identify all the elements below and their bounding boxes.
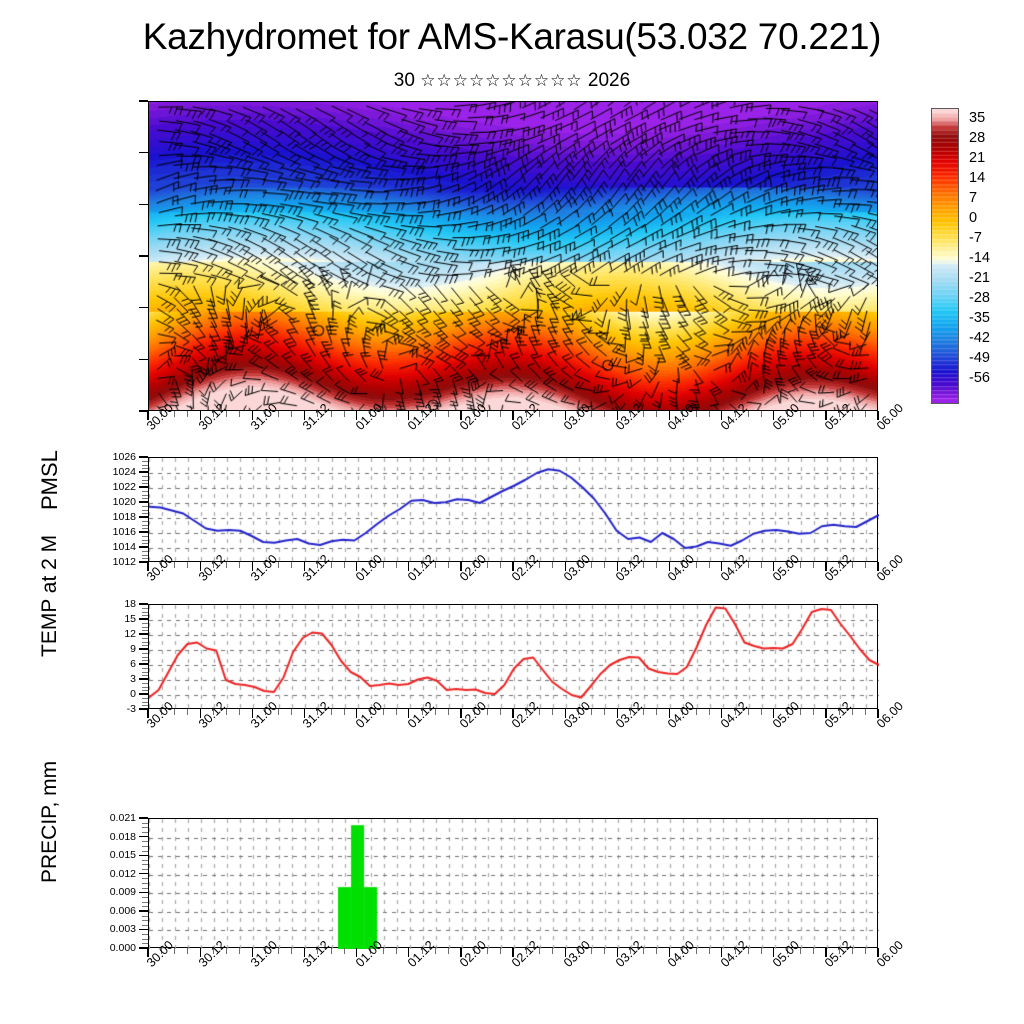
x-minor-tick — [239, 562, 240, 568]
y-minor-tick — [142, 627, 148, 628]
y-tick — [139, 648, 148, 649]
page-title: Kazhydromet for AMS-Karasu(53.032 70.221… — [0, 16, 1024, 58]
y-minor-tick — [142, 483, 148, 484]
x-minor-tick — [187, 709, 188, 715]
x-minor-tick — [448, 411, 449, 417]
y-tick — [139, 100, 148, 101]
y-tick — [139, 678, 148, 679]
x-minor-tick — [761, 562, 762, 568]
x-minor-tick — [448, 948, 449, 954]
precip-chart — [148, 818, 878, 948]
y-minor-tick — [142, 491, 148, 492]
y-minor-tick — [142, 555, 148, 556]
subtitle-year: 2026 — [588, 70, 630, 91]
x-minor-tick — [552, 709, 553, 715]
y-minor-tick — [142, 869, 148, 870]
y-minor-tick — [142, 558, 148, 559]
y-tick — [139, 817, 148, 818]
x-minor-tick — [865, 948, 866, 954]
colorbar-tick-label: 21 — [969, 150, 985, 166]
y-minor-tick — [142, 551, 148, 552]
y-tick — [139, 152, 148, 153]
colorbar-tick-label: -56 — [969, 370, 990, 386]
y-minor-tick — [142, 705, 148, 706]
y-minor-tick — [142, 860, 148, 861]
x-minor-tick — [761, 709, 762, 715]
y-minor-tick — [142, 536, 148, 537]
x-minor-tick — [239, 948, 240, 954]
y-tick-label: 1024 — [113, 466, 136, 478]
x-minor-tick — [500, 948, 501, 954]
y-minor-tick — [142, 864, 148, 865]
x-minor-tick — [500, 411, 501, 417]
y-minor-tick — [142, 690, 148, 691]
y-minor-tick — [142, 841, 148, 842]
y-tick — [139, 255, 148, 256]
colorbar-tick-label: -7 — [969, 230, 982, 246]
temp-chart — [148, 604, 878, 709]
x-minor-tick — [344, 948, 345, 954]
y-minor-tick — [142, 528, 148, 529]
y-tick-label: 0.006 — [110, 905, 136, 917]
y-minor-tick — [142, 476, 148, 477]
y-minor-tick — [142, 934, 148, 935]
y-minor-tick — [142, 498, 148, 499]
y-tick — [139, 855, 148, 856]
y-tick-label: 18 — [124, 598, 136, 610]
x-minor-tick — [656, 562, 657, 568]
y-tick — [139, 359, 148, 360]
y-minor-tick — [142, 906, 148, 907]
subtitle-month-glyphs: ☆☆☆☆☆☆☆☆☆☆ — [420, 71, 582, 90]
y-tick-label: 15 — [124, 613, 136, 625]
x-minor-tick — [709, 948, 710, 954]
y-minor-tick — [142, 687, 148, 688]
y-tick-label: 12 — [124, 628, 136, 640]
y-minor-tick — [142, 525, 148, 526]
y-minor-tick — [142, 939, 148, 940]
x-minor-tick — [239, 709, 240, 715]
colorbar-tick-label: 28 — [969, 130, 985, 146]
y-minor-tick — [142, 521, 148, 522]
x-minor-tick — [552, 411, 553, 417]
y-minor-tick — [142, 827, 148, 828]
y-minor-tick — [142, 513, 148, 514]
colorbar-tick-label: -28 — [969, 290, 990, 306]
x-minor-tick — [656, 709, 657, 715]
y-tick — [139, 836, 148, 837]
y-tick — [139, 618, 148, 619]
y-tick-label: 1016 — [113, 526, 136, 538]
x-minor-tick — [396, 948, 397, 954]
colorbar-tick-label: -35 — [969, 310, 990, 326]
temperature-field-canvas — [149, 102, 877, 410]
y-minor-tick — [142, 540, 148, 541]
pmsl-chart — [148, 457, 878, 562]
x-minor-tick — [291, 709, 292, 715]
y-minor-tick — [142, 897, 148, 898]
y-minor-tick — [142, 668, 148, 669]
y-minor-tick — [142, 465, 148, 466]
x-minor-tick — [396, 562, 397, 568]
x-minor-tick — [761, 411, 762, 417]
precip-bar-canvas — [149, 819, 879, 949]
y-minor-tick — [142, 480, 148, 481]
y-tick — [139, 307, 148, 308]
y-tick-label: 0.021 — [110, 812, 136, 824]
y-tick — [139, 546, 148, 547]
x-minor-tick — [604, 411, 605, 417]
y-minor-tick — [142, 698, 148, 699]
x-minor-tick — [187, 562, 188, 568]
y-tick — [139, 892, 148, 893]
y-minor-tick — [142, 943, 148, 944]
y-minor-tick — [142, 702, 148, 703]
y-minor-tick — [142, 653, 148, 654]
subtitle: 30 ☆☆☆☆☆☆☆☆☆☆ 2026 — [0, 70, 1024, 92]
y-minor-tick — [142, 642, 148, 643]
y-minor-tick — [142, 675, 148, 676]
y-minor-tick — [142, 615, 148, 616]
x-minor-tick — [396, 709, 397, 715]
y-minor-tick — [142, 510, 148, 511]
y-minor-tick — [142, 823, 148, 824]
y-tick-label: 0.009 — [110, 886, 136, 898]
y-tick — [139, 516, 148, 517]
y-tick — [139, 531, 148, 532]
colorbar-tick-label: 14 — [969, 170, 985, 186]
colorbar-tick-label: 35 — [969, 110, 985, 126]
x-minor-tick — [865, 709, 866, 715]
y-minor-tick — [142, 468, 148, 469]
subtitle-day: 30 — [394, 70, 415, 91]
pmsl-line-canvas — [149, 458, 879, 563]
y-minor-tick — [142, 683, 148, 684]
y-tick-label: 1026 — [113, 451, 136, 463]
y-minor-tick — [142, 883, 148, 884]
y-tick — [139, 663, 148, 664]
y-minor-tick — [142, 902, 148, 903]
y-minor-tick — [142, 630, 148, 631]
y-minor-tick — [142, 608, 148, 609]
y-minor-tick — [142, 846, 148, 847]
y-minor-tick — [142, 638, 148, 639]
upper-air-chart — [148, 101, 878, 411]
y-tick — [139, 633, 148, 634]
y-tick-label: 1012 — [113, 556, 136, 568]
y-minor-tick — [142, 925, 148, 926]
y-minor-tick — [142, 543, 148, 544]
x-minor-tick — [761, 948, 762, 954]
y-minor-tick — [142, 645, 148, 646]
x-minor-tick — [709, 411, 710, 417]
y-minor-tick — [142, 878, 148, 879]
y-tick-label: 0.015 — [110, 849, 136, 861]
x-minor-tick — [187, 948, 188, 954]
x-minor-tick — [813, 562, 814, 568]
x-minor-tick — [344, 411, 345, 417]
x-minor-tick — [604, 709, 605, 715]
colorbar — [931, 108, 959, 404]
x-minor-tick — [656, 411, 657, 417]
y-minor-tick — [142, 657, 148, 658]
y-minor-tick — [142, 888, 148, 889]
x-minor-tick — [813, 709, 814, 715]
y-tick — [139, 456, 148, 457]
y-tick — [139, 603, 148, 604]
y-minor-tick — [142, 612, 148, 613]
colorbar-tick-label: -42 — [969, 330, 990, 346]
y-tick-label: 0.000 — [110, 942, 136, 954]
x-minor-tick — [865, 411, 866, 417]
x-minor-tick — [291, 562, 292, 568]
x-minor-tick — [396, 411, 397, 417]
x-minor-tick — [709, 562, 710, 568]
y-tick — [139, 486, 148, 487]
y-minor-tick — [142, 672, 148, 673]
x-minor-tick — [291, 948, 292, 954]
y-minor-tick — [142, 660, 148, 661]
x-minor-tick — [344, 709, 345, 715]
y-tick-label: -3 — [127, 703, 136, 715]
x-minor-tick — [291, 411, 292, 417]
y-minor-tick — [142, 495, 148, 496]
x-minor-tick — [552, 948, 553, 954]
y-minor-tick — [142, 916, 148, 917]
y-tick-label: 1022 — [113, 481, 136, 493]
x-minor-tick — [604, 948, 605, 954]
x-minor-tick — [344, 562, 345, 568]
x-minor-tick — [239, 411, 240, 417]
x-tick-label: 06.00 — [874, 401, 906, 433]
y-tick — [139, 910, 148, 911]
x-minor-tick — [604, 562, 605, 568]
y-tick-label: 1020 — [113, 496, 136, 508]
y-tick — [139, 929, 148, 930]
x-minor-tick — [656, 948, 657, 954]
y-minor-tick — [142, 506, 148, 507]
y-tick-label: 6 — [130, 658, 136, 670]
y-minor-tick — [142, 851, 148, 852]
y-minor-tick — [142, 461, 148, 462]
x-minor-tick — [500, 709, 501, 715]
colorbar-tick-label: -49 — [969, 350, 990, 366]
y-minor-tick — [142, 920, 148, 921]
y-tick-label: 0.012 — [110, 868, 136, 880]
y-tick — [139, 471, 148, 472]
x-minor-tick — [813, 411, 814, 417]
y-tick-label: 1014 — [113, 541, 136, 553]
y-tick-label: 3 — [130, 673, 136, 685]
x-minor-tick — [448, 562, 449, 568]
x-minor-tick — [552, 562, 553, 568]
temp-line-canvas — [149, 605, 879, 710]
colorbar-tick-label: 7 — [969, 190, 977, 206]
colorbar-tick-label: -21 — [969, 270, 990, 286]
y-tick-label: 0.003 — [110, 923, 136, 935]
x-minor-tick — [709, 709, 710, 715]
y-tick-label: 1018 — [113, 511, 136, 523]
x-minor-tick — [500, 562, 501, 568]
y-minor-tick — [142, 623, 148, 624]
x-minor-tick — [187, 411, 188, 417]
y-minor-tick — [142, 832, 148, 833]
x-minor-tick — [813, 948, 814, 954]
y-tick — [139, 204, 148, 205]
y-tick — [139, 873, 148, 874]
x-minor-tick — [865, 562, 866, 568]
colorbar-tick-label: 0 — [969, 210, 977, 226]
y-tick-label: 0 — [130, 688, 136, 700]
y-tick — [139, 501, 148, 502]
y-tick — [139, 693, 148, 694]
y-tick-label: 0.018 — [110, 831, 136, 843]
y-tick-label: 9 — [130, 643, 136, 655]
colorbar-tick-label: -14 — [969, 250, 990, 266]
x-minor-tick — [448, 709, 449, 715]
